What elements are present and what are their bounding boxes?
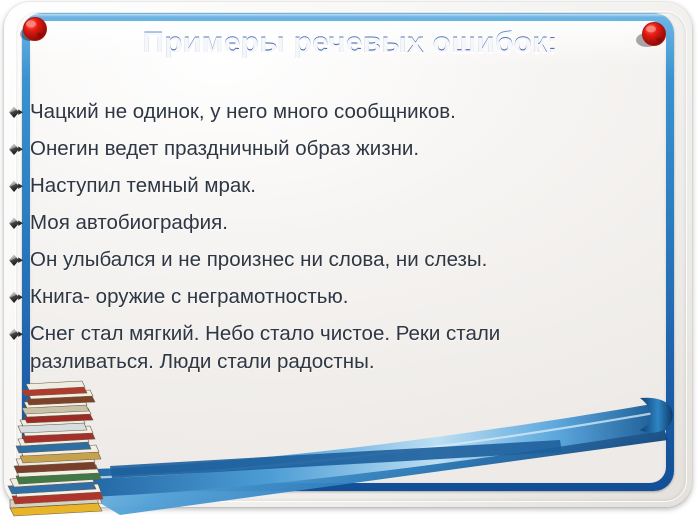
slide-canvas: Примеры речевых ошибок: Примеры речевых … (0, 0, 700, 525)
diamond-arrow-bullet-icon (8, 253, 24, 269)
bullet-item: Снег стал мягкий. Небо стало чистое. Рек… (8, 320, 628, 376)
bullet-item-text: Чацкий не одинок, у него много сообщнико… (30, 98, 628, 126)
diamond-arrow-bullet-icon (8, 290, 24, 306)
slide-title: Примеры речевых ошибок: (0, 26, 700, 60)
diamond-arrow-bullet-icon (8, 327, 24, 343)
bullet-item-text: Он улыбался и не произнес ни слова, ни с… (30, 246, 628, 274)
bullet-item-text: Онегин ведет праздничный образ жизни. (30, 135, 628, 163)
bullet-list: Чацкий не одинок, у него много сообщнико… (8, 98, 628, 385)
books-stack-image (2, 372, 112, 517)
diamond-arrow-bullet-icon (8, 105, 24, 121)
bullet-item: Онегин ведет праздничный образ жизни. (8, 135, 628, 163)
diamond-arrow-bullet-icon (8, 142, 24, 158)
bullet-item: Он улыбался и не произнес ни слова, ни с… (8, 246, 628, 274)
bullet-item-text: Моя автобиография. (30, 209, 628, 237)
diamond-arrow-bullet-icon (8, 216, 24, 232)
diamond-arrow-bullet-icon (8, 179, 24, 195)
bullet-item-text: Наступил темный мрак. (30, 172, 628, 200)
bullet-item-text: Книга- оружие с неграмотностью. (30, 283, 628, 311)
bullet-item: Книга- оружие с неграмотностью. (8, 283, 628, 311)
bullet-item-text: Снег стал мягкий. Небо стало чистое. Рек… (30, 320, 628, 376)
bullet-item: Наступил темный мрак. (8, 172, 628, 200)
bullet-item: Чацкий не одинок, у него много сообщнико… (8, 98, 628, 126)
bullet-item: Моя автобиография. (8, 209, 628, 237)
